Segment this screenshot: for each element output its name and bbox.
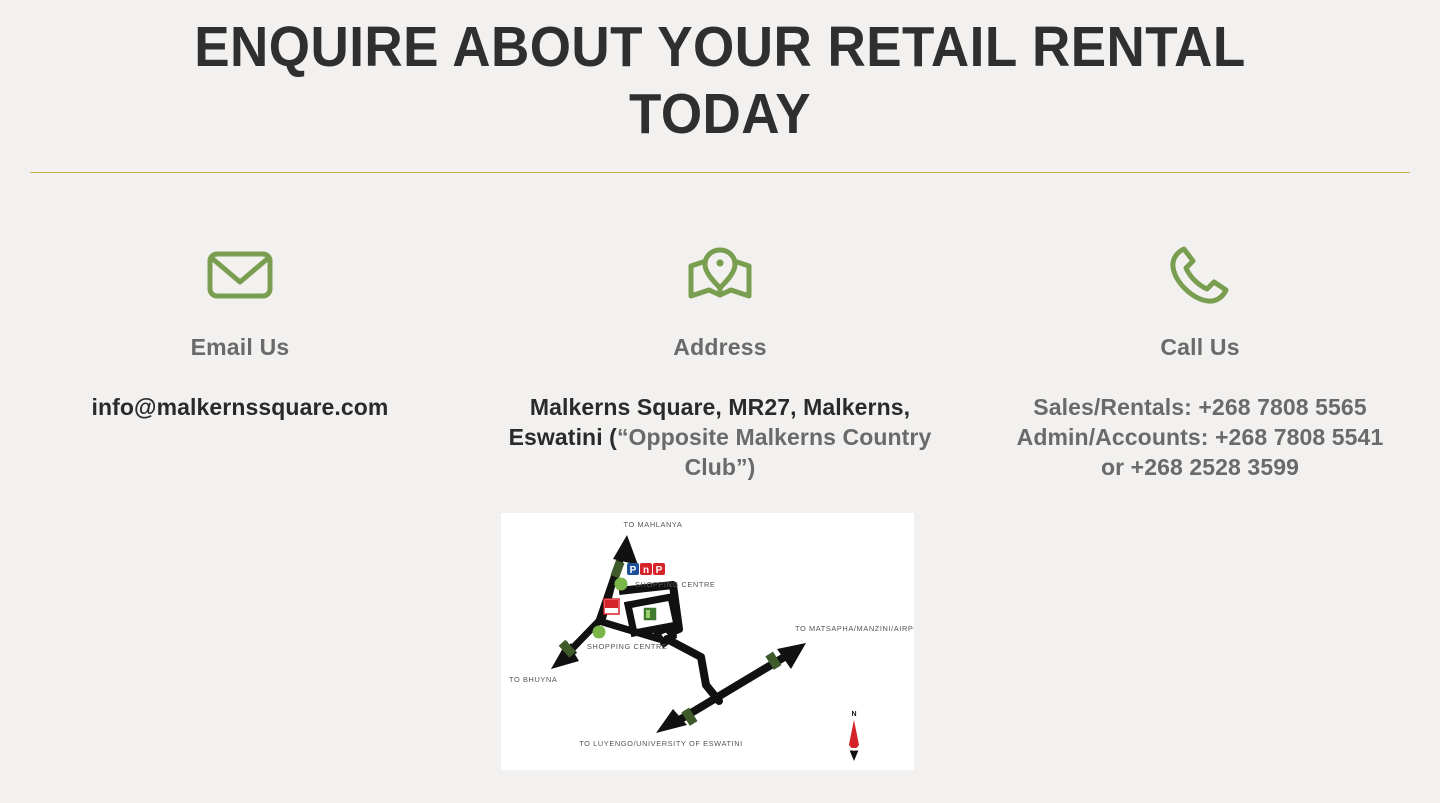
- svg-text:n: n: [643, 565, 649, 576]
- pnp-logo: P n P: [627, 563, 665, 576]
- phone-icon: [988, 240, 1412, 310]
- phone-admin-accounts[interactable]: Admin/Accounts: +268 7808 5541: [988, 423, 1412, 453]
- email-address-value[interactable]: info@malkernssquare.com: [92, 394, 389, 420]
- contact-page: ENQUIRE ABOUT YOUR RETAIL RENTAL TODAY E…: [0, 0, 1440, 803]
- map-label-shopping-top: SHOPPING CENTRE: [635, 580, 715, 589]
- address-value-note: “Opposite Malkerns Country Club”): [617, 424, 931, 480]
- map-label-left: TO BHUYNA: [509, 675, 557, 684]
- directions-map[interactable]: P n P TO MAHLANYA TO BHUYNA TO MATSAPHA/…: [501, 513, 914, 770]
- map-label-top: TO MAHLANYA: [624, 520, 683, 529]
- poi-dot: [593, 626, 606, 639]
- contact-column-email: Email Us info@malkernssquare.com: [0, 240, 480, 423]
- svg-text:P: P: [630, 565, 637, 576]
- svg-text:N: N: [851, 711, 856, 718]
- phone-alternate[interactable]: or +268 2528 3599: [988, 453, 1412, 483]
- contact-column-title-phone: Call Us: [988, 334, 1412, 361]
- shop-logo: [604, 599, 619, 614]
- section-divider: [30, 172, 1410, 173]
- contact-columns: Email Us info@malkernssquare.com Address…: [0, 240, 1440, 483]
- map-label-right: TO MATSAPHA/MANZINI/AIRPORT: [795, 624, 914, 633]
- poi-dot: [615, 578, 628, 591]
- anchor-store-icon: [643, 607, 657, 621]
- envelope-icon: [28, 240, 452, 310]
- page-title: ENQUIRE ABOUT YOUR RETAIL RENTAL TODAY: [171, 14, 1268, 149]
- contact-column-address: Address Malkerns Square, MR27, Malkerns,…: [480, 240, 960, 483]
- map-label-shopping-bottom: SHOPPING CENTRE: [587, 642, 667, 651]
- map-label-bottom: TO LUYENGO/UNIVERSITY OF ESWATINI: [579, 739, 743, 748]
- page-heading-wrap: ENQUIRE ABOUT YOUR RETAIL RENTAL TODAY: [0, 0, 1440, 149]
- contact-column-phone: Call Us Sales/Rentals: +268 7808 5565 Ad…: [960, 240, 1440, 483]
- svg-text:P: P: [656, 565, 663, 576]
- phone-sales-rentals[interactable]: Sales/Rentals: +268 7808 5565: [988, 393, 1412, 423]
- map-pin-icon: [508, 240, 932, 310]
- contact-column-title-email: Email Us: [28, 334, 452, 361]
- contact-column-title-address: Address: [508, 334, 932, 361]
